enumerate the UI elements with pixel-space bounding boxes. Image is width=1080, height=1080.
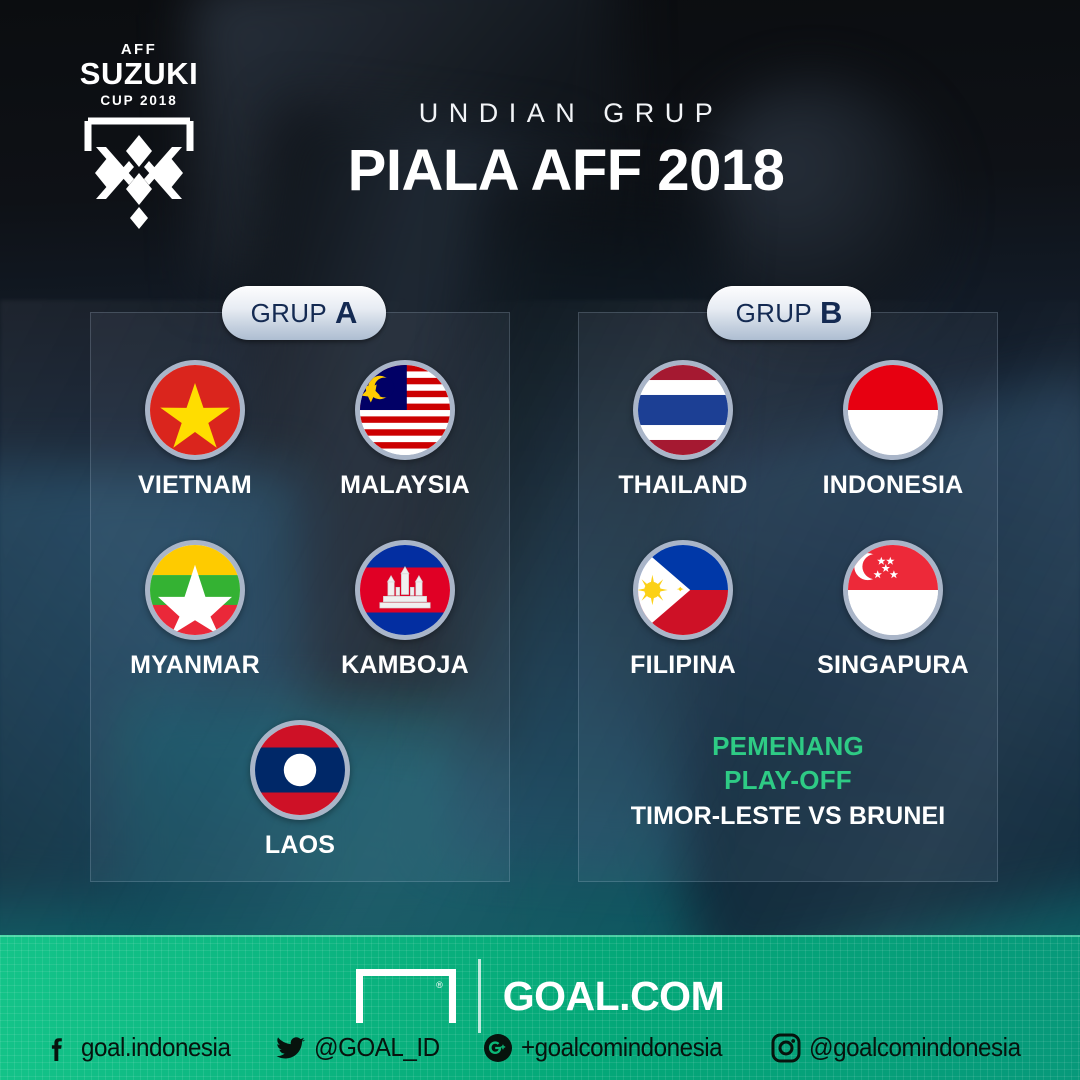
playoff-note: PEMENANG PLAY-OFF TIMOR-LESTE VS BRUNEI bbox=[578, 720, 998, 835]
header-title-block: UNDIAN GRUP PIALA AFF 2018 bbox=[326, 100, 806, 200]
brand-name: GOAL.COM bbox=[503, 973, 724, 1020]
aff-suzuki-cup-logo: AFF SUZUKI CUP 2018 bbox=[78, 42, 200, 224]
logo-line-aff: AFF bbox=[78, 42, 200, 57]
social-handle: @GOAL_ID bbox=[314, 1032, 440, 1063]
team-name: FILIPINA bbox=[630, 651, 736, 680]
instagram-icon bbox=[771, 1033, 801, 1063]
team-card-filipina[interactable]: FILIPINA bbox=[578, 540, 788, 720]
group-a-team-grid: VIETNAM bbox=[90, 360, 510, 900]
social-link-googleplus[interactable]: +goalcomindonesia bbox=[483, 1032, 737, 1063]
team-card-thailand[interactable]: THAILAND bbox=[578, 360, 788, 540]
playoff-label-line1: PEMENANG bbox=[578, 730, 998, 764]
team-card-singapura[interactable]: SINGAPURA bbox=[788, 540, 998, 720]
playoff-label-line2: PLAY-OFF bbox=[578, 764, 998, 798]
flag-singapore-icon bbox=[843, 540, 943, 640]
group-a-badge: GRUP A bbox=[222, 286, 386, 340]
team-name: VIETNAM bbox=[138, 471, 252, 500]
team-name: LAOS bbox=[265, 831, 335, 860]
social-handle: @goalcomindonesia bbox=[809, 1032, 1021, 1063]
page-title: PIALA AFF 2018 bbox=[326, 142, 806, 200]
aff-suzuki-cup-shield-icon bbox=[78, 111, 200, 229]
team-card-myanmar[interactable]: MYANMAR bbox=[90, 540, 300, 720]
flag-myanmar-icon bbox=[145, 540, 245, 640]
flag-indonesia-icon bbox=[843, 360, 943, 460]
flag-malaysia-icon bbox=[355, 360, 455, 460]
team-name: SINGAPURA bbox=[817, 651, 969, 680]
goal-com-brand[interactable]: ® GOAL.COM bbox=[0, 959, 1080, 1033]
social-link-instagram[interactable]: @goalcomindonesia bbox=[771, 1032, 1036, 1063]
social-links: goal.indonesia @GOAL_ID bbox=[0, 1032, 1080, 1063]
social-handle: goal.indonesia bbox=[81, 1032, 230, 1063]
team-card-vietnam[interactable]: VIETNAM bbox=[90, 360, 300, 540]
group-b-badge: GRUP B bbox=[707, 286, 871, 340]
footer-bar: ® GOAL.COM goal.indonesia bbox=[0, 935, 1080, 1080]
team-name: INDONESIA bbox=[823, 471, 964, 500]
logo-line-suzuki: SUZUKI bbox=[78, 58, 200, 91]
team-card-laos[interactable]: LAOS bbox=[90, 720, 510, 900]
flag-cambodia-icon bbox=[355, 540, 455, 640]
team-card-malaysia[interactable]: MALAYSIA bbox=[300, 360, 510, 540]
twitter-icon bbox=[276, 1033, 306, 1063]
social-link-facebook[interactable]: goal.indonesia bbox=[43, 1032, 242, 1063]
playoff-matchup: TIMOR-LESTE VS BRUNEI bbox=[578, 798, 998, 836]
group-b-badge-letter: B bbox=[820, 295, 842, 331]
brand-divider bbox=[478, 959, 481, 1033]
group-a-badge-letter: A bbox=[335, 295, 357, 331]
flag-thailand-icon bbox=[633, 360, 733, 460]
facebook-icon bbox=[43, 1033, 73, 1063]
social-link-twitter[interactable]: @GOAL_ID bbox=[276, 1032, 449, 1063]
goalpost-icon: ® bbox=[356, 969, 456, 1023]
googleplus-icon bbox=[483, 1033, 513, 1063]
page-kicker: UNDIAN GRUP bbox=[326, 100, 806, 127]
team-card-kamboja[interactable]: KAMBOJA bbox=[300, 540, 510, 720]
team-name: MYANMAR bbox=[130, 651, 260, 680]
team-name: KAMBOJA bbox=[341, 651, 469, 680]
group-a-badge-word: GRUP bbox=[251, 298, 327, 329]
group-b-team-grid: THAILAND INDONESIA bbox=[578, 360, 998, 835]
team-card-indonesia[interactable]: INDONESIA bbox=[788, 360, 998, 540]
logo-line-cup: CUP 2018 bbox=[78, 94, 200, 108]
flag-philippines-icon bbox=[633, 540, 733, 640]
registered-mark: ® bbox=[436, 980, 443, 990]
team-name: THAILAND bbox=[618, 471, 747, 500]
infographic-canvas: AFF SUZUKI CUP 2018 UNDIAN GRUP PIALA bbox=[0, 0, 1080, 1080]
group-b-badge-word: GRUP bbox=[736, 298, 812, 329]
flag-vietnam-icon bbox=[145, 360, 245, 460]
social-handle: +goalcomindonesia bbox=[521, 1032, 722, 1063]
flag-laos-icon bbox=[250, 720, 350, 820]
team-name: MALAYSIA bbox=[340, 471, 470, 500]
